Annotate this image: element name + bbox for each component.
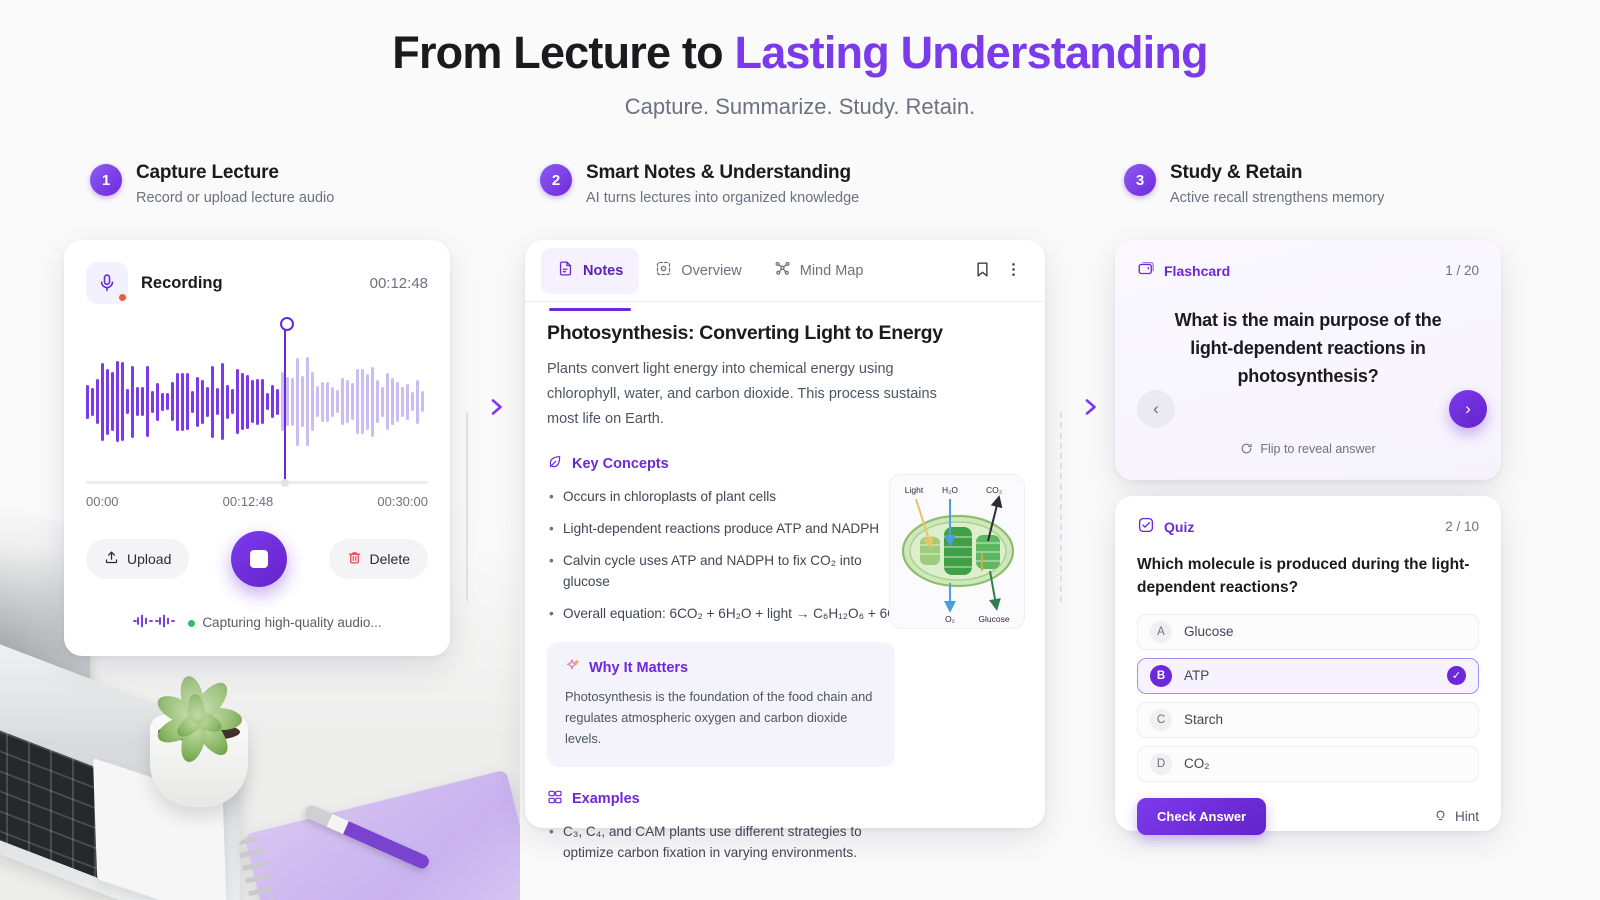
tab-mind-map-label: Mind Map: [800, 263, 864, 279]
step-3-desc: Active recall strengthens memory: [1170, 190, 1384, 206]
flashcard-label: Flashcard: [1164, 263, 1230, 279]
more-vertical-icon[interactable]: [998, 254, 1029, 288]
page-title-plain: From Lecture to: [392, 27, 734, 78]
page-title: From Lecture to Lasting Understanding: [0, 28, 1600, 78]
notes-heading: Photosynthesis: Converting Light to Ener…: [547, 322, 1023, 345]
quiz-footer: Check Answer Hint: [1137, 798, 1479, 835]
tab-notes[interactable]: Notes: [541, 248, 639, 294]
quiz-option-c[interactable]: C Starch: [1137, 702, 1479, 738]
leaf-icon: [547, 454, 563, 474]
recorder-elapsed-time: 00:12:48: [370, 275, 428, 292]
mind-map-icon: [774, 260, 791, 281]
step-2-title: Smart Notes & Understanding: [586, 162, 859, 184]
step-3-header: 3 Study & Retain Active recall strengthe…: [1124, 162, 1384, 206]
connector-dashed-2: [1060, 412, 1062, 602]
check-circle-icon: ✓: [1447, 666, 1466, 685]
notes-card: Notes Overview Mind Map Photosynthesis: …: [525, 240, 1045, 828]
why-it-matters-text: Photosynthesis is the foundation of the …: [565, 687, 877, 749]
audio-level-icon: [132, 613, 176, 632]
quiz-header: Quiz 2 / 10: [1137, 516, 1479, 537]
quiz-option-d-label: CO₂: [1184, 756, 1210, 771]
flashcard-prev-button[interactable]: ‹: [1137, 390, 1175, 428]
flashcard-counter: 1 / 20: [1445, 263, 1479, 278]
tab-notes-label: Notes: [583, 263, 623, 279]
step-1-header: 1 Capture Lecture Record or upload lectu…: [90, 162, 334, 206]
timeline-start: 00:00: [86, 494, 119, 509]
recorder-status-text: Capturing high-quality audio...: [188, 615, 381, 630]
examples-label: Examples: [572, 791, 640, 807]
waveform-playhead[interactable]: [284, 326, 286, 481]
document-icon: [557, 260, 574, 281]
quiz-option-c-label: Starch: [1184, 712, 1223, 727]
bookmark-icon[interactable]: [967, 254, 998, 288]
hint-button[interactable]: Hint: [1433, 807, 1479, 825]
recorder-card: Recording 00:12:48 00:00 00:12:48 00:30:…: [64, 240, 450, 656]
step-1-title: Capture Lecture: [136, 162, 334, 184]
list-item: Light-dependent reactions produce ATP an…: [547, 518, 907, 539]
check-answer-button[interactable]: Check Answer: [1137, 798, 1266, 835]
quiz-counter: 2 / 10: [1445, 519, 1479, 534]
delete-button-label: Delete: [370, 551, 410, 567]
quiz-option-c-key: C: [1150, 709, 1172, 731]
examples-header: Examples: [547, 789, 1023, 809]
trash-icon: [347, 550, 362, 568]
why-it-matters-header: Why It Matters: [565, 658, 877, 677]
step-2-desc: AI turns lectures into organized knowled…: [586, 190, 859, 206]
figure-label-glucose: Glucose: [978, 614, 1009, 624]
recorder-status: Capturing high-quality audio...: [86, 613, 428, 632]
tab-overview[interactable]: Overview: [639, 248, 757, 294]
timeline-track[interactable]: [86, 481, 428, 484]
upload-button[interactable]: Upload: [86, 539, 189, 579]
arrow-right-icon-1: [462, 396, 508, 423]
step-header-row: 1 Capture Lecture Record or upload lectu…: [0, 162, 1600, 222]
flashcard-flip-hint[interactable]: Flip to reveal answer: [1115, 442, 1501, 459]
notes-body: Photosynthesis: Converting Light to Ener…: [525, 302, 1045, 863]
flashcard-title: Flashcard: [1137, 260, 1230, 281]
flashcard-header: Flashcard 1 / 20: [1137, 260, 1479, 281]
arrow-right-icon-2: [1056, 396, 1102, 423]
waveform[interactable]: [86, 344, 428, 459]
key-concepts-label: Key Concepts: [572, 456, 669, 472]
flashcard-flip-text: Flip to reveal answer: [1260, 442, 1375, 456]
tab-overview-label: Overview: [681, 263, 741, 279]
refresh-icon: [1240, 442, 1253, 455]
page-title-accent: Lasting Understanding: [735, 27, 1208, 78]
notes-summary: Plants convert light energy into chemica…: [547, 357, 947, 432]
chloroplast-diagram: Light H₂O CO₂: [889, 474, 1025, 629]
step-2-number: 2: [540, 164, 572, 196]
flashcard-next-button[interactable]: ›: [1449, 390, 1487, 428]
delete-button[interactable]: Delete: [329, 539, 428, 579]
list-item: Calvin cycle uses ATP and NADPH to fix C…: [547, 550, 907, 592]
step-3-title: Study & Retain: [1170, 162, 1384, 184]
recording-indicator-dot: [119, 294, 126, 301]
step-3-number: 3: [1124, 164, 1156, 196]
timeline-labels: 00:00 00:12:48 00:30:00: [86, 494, 428, 509]
flashcard-card[interactable]: Flashcard 1 / 20 What is the main purpos…: [1115, 240, 1501, 480]
notes-tabbar: Notes Overview Mind Map: [525, 240, 1045, 302]
quiz-label: Quiz: [1164, 519, 1194, 535]
lightbulb-icon: [1433, 807, 1448, 825]
recorder-title: Recording: [141, 274, 223, 293]
figure-label-o2: O₂: [945, 614, 955, 624]
quiz-option-a[interactable]: A Glucose: [1137, 614, 1479, 650]
upload-icon: [104, 550, 119, 568]
recorder-header: Recording 00:12:48: [86, 262, 428, 304]
sparkle-icon: [565, 658, 580, 677]
why-it-matters-callout: Why It Matters Photosynthesis is the fou…: [547, 642, 895, 767]
quiz-option-b-label: ATP: [1184, 668, 1209, 683]
list-item: Overall equation: 6CO₂ + 6H₂O + light → …: [547, 603, 907, 624]
quiz-option-d-key: D: [1150, 753, 1172, 775]
quiz-option-a-key: A: [1150, 621, 1172, 643]
list-item: Occurs in chloroplasts of plant cells: [547, 486, 907, 507]
list-item: C₃, C₄, and CAM plants use different str…: [547, 821, 887, 863]
stop-recording-button[interactable]: [231, 531, 287, 587]
timeline-end: 00:30:00: [377, 494, 428, 509]
examples-list: C₃, C₄, and CAM plants use different str…: [547, 821, 1023, 863]
tab-mind-map[interactable]: Mind Map: [758, 248, 880, 294]
connector-dashed-1: [466, 412, 468, 602]
flashcard-question: What is the main purpose of the light-de…: [1137, 307, 1479, 391]
quiz-option-a-label: Glucose: [1184, 624, 1234, 639]
upload-button-label: Upload: [127, 551, 171, 567]
layers-icon: [547, 789, 563, 809]
quiz-title: Quiz: [1137, 516, 1194, 537]
flashcard-icon: [1137, 260, 1155, 281]
microphone-icon: [86, 262, 128, 304]
why-it-matters-label: Why It Matters: [589, 660, 688, 676]
figure-label-light: Light: [905, 485, 924, 495]
quiz-option-d[interactable]: D CO₂: [1137, 746, 1479, 782]
recorder-controls: Upload Delete: [86, 531, 428, 587]
quiz-options: A Glucose B ATP ✓ C Starch D CO₂: [1137, 614, 1479, 782]
quiz-check-icon: [1137, 516, 1155, 537]
quiz-question: Which molecule is produced during the li…: [1137, 553, 1479, 600]
quiz-card: Quiz 2 / 10 Which molecule is produced d…: [1115, 496, 1501, 831]
step-1-number: 1: [90, 164, 122, 196]
quiz-option-b-key: B: [1150, 665, 1172, 687]
overview-frame-icon: [655, 260, 672, 281]
figure-label-h2o: H₂O: [942, 485, 958, 495]
figure-label-co2: CO₂: [986, 485, 1002, 495]
quiz-option-b[interactable]: B ATP ✓: [1137, 658, 1479, 694]
hint-label: Hint: [1455, 809, 1479, 824]
step-2-header: 2 Smart Notes & Understanding AI turns l…: [540, 162, 859, 206]
hero-header: From Lecture to Lasting Understanding Ca…: [0, 28, 1600, 120]
page-subtitle: Capture. Summarize. Study. Retain.: [0, 94, 1600, 120]
key-concepts-header: Key Concepts: [547, 454, 1023, 474]
timeline-current: 00:12:48: [223, 494, 274, 509]
step-1-desc: Record or upload lecture audio: [136, 190, 334, 206]
